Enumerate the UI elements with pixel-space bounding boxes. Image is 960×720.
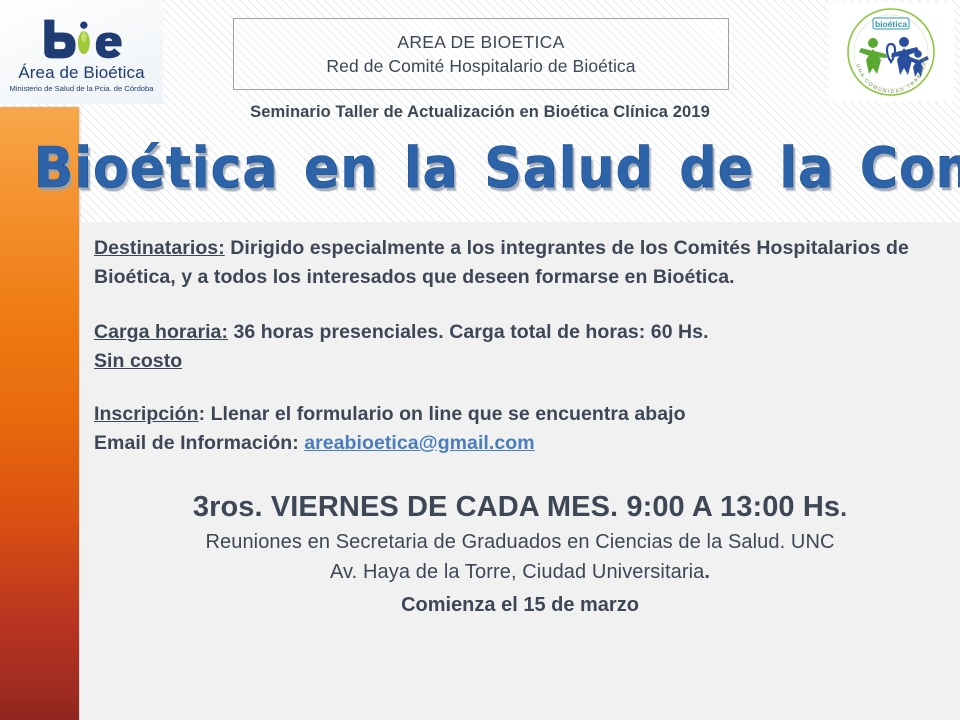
community-circle-logo-icon: bioética UNA COMUNIDAD TRABAJANDO UNIDA [828, 2, 954, 102]
inscripcion-paragraph: Inscripción: Llenar el formulario on lin… [94, 400, 946, 429]
schedule-location-line-1: Reuniones en Secretaria de Graduados en … [94, 527, 946, 557]
spacer [94, 292, 946, 318]
inscripcion-label: Inscripción [94, 403, 199, 425]
logo-left-title: Área de Bioética [18, 63, 144, 83]
logo-left-subtitle: Ministerio de Salud de la Pcia. de Córdo… [10, 84, 154, 93]
header-line-1: AREA DE BIOETICA [397, 32, 564, 53]
email-label: Email de Información: [94, 432, 304, 454]
sin-costo-paragraph: Sin costo [94, 347, 946, 376]
schedule-location-line-2: Av. Haya de la Torre, Ciudad Universitar… [94, 557, 946, 587]
poster-canvas: Área de Bioética Ministerio de Salud de … [0, 0, 960, 720]
community-logo: bioética UNA COMUNIDAD TRABAJANDO UNIDA [828, 2, 954, 102]
content-panel: Destinatarios: Dirigido especialmente a … [80, 222, 960, 720]
area-de-bioetica-logo: Área de Bioética Ministerio de Salud de … [0, 0, 163, 104]
inscripcion-text: : Llenar el formulario on line que se en… [199, 403, 686, 425]
schedule-main-line: 3ros. VIERNES DE CADA MES. 9:00 A 13:00 … [94, 488, 946, 527]
poster-wordart-title: Bioética en la Salud de la Comunidad [34, 138, 927, 200]
schedule-main-text: 3ros. VIERNES DE CADA MES. 9:00 A 13:00 … [193, 491, 840, 523]
svg-text:bioética: bioética [875, 19, 907, 29]
schedule-address-text: Av. Haya de la Torre, Ciudad Universitar… [330, 561, 704, 583]
schedule-start-date: Comienza el 15 de marzo [94, 589, 946, 621]
schedule-main-tail: . [840, 494, 847, 522]
spacer [94, 376, 946, 400]
email-paragraph: Email de Información: areabioetica@gmail… [94, 429, 946, 458]
header-title-box: AREA DE BIOETICA Red de Comité Hospitala… [233, 18, 729, 90]
destinatarios-label: Destinatarios: [94, 237, 225, 259]
bie-logo-icon [36, 16, 128, 62]
carga-horaria-text: 36 horas presenciales. Carga total de ho… [228, 321, 709, 343]
seminar-subtitle: Seminario Taller de Actualización en Bio… [0, 103, 960, 122]
email-link[interactable]: areabioetica@gmail.com [304, 432, 534, 454]
sin-costo-label: Sin costo [94, 350, 182, 372]
carga-horaria-paragraph: Carga horaria: 36 horas presenciales. Ca… [94, 318, 946, 347]
carga-horaria-label: Carga horaria: [94, 321, 228, 343]
header-line-2: Red de Comité Hospitalario de Bioética [326, 56, 635, 77]
schedule-block: 3ros. VIERNES DE CADA MES. 9:00 A 13:00 … [94, 488, 946, 621]
schedule-address-tail: . [704, 561, 710, 583]
destinatarios-paragraph: Destinatarios: Dirigido especialmente a … [94, 234, 946, 292]
